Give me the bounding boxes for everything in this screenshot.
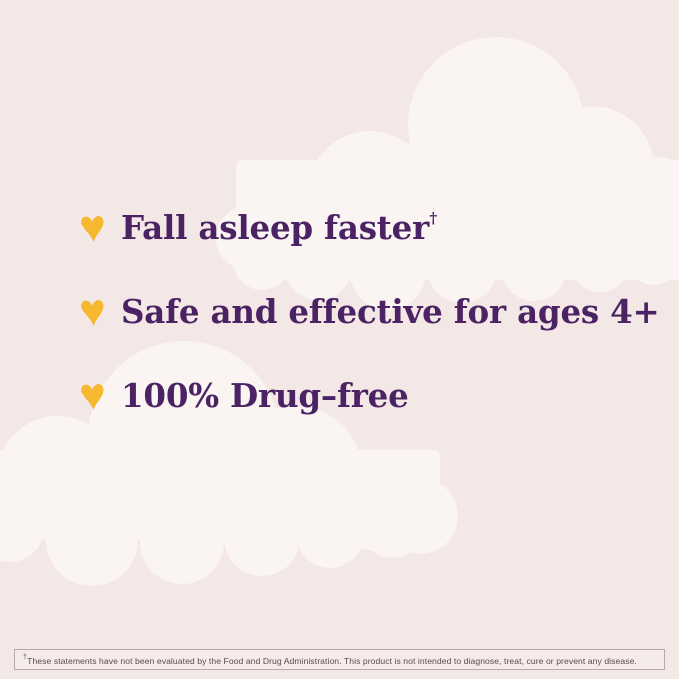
benefit-label: 100% Drug–free (121, 380, 409, 413)
disclaimer-marker: † (23, 652, 27, 661)
disclaimer-box: †These statements have not been evaluate… (14, 649, 665, 670)
benefits-list: Fall asleep faster† Safe and effective f… (78, 186, 638, 438)
benefit-text-0: Fall asleep faster (121, 208, 429, 247)
benefit-row: 100% Drug–free (78, 354, 638, 438)
disclaimer-body: These statements have not been evaluated… (27, 656, 637, 666)
benefit-row: Fall asleep faster† (78, 186, 638, 270)
benefit-row: Safe and effective for ages 4+ (78, 270, 638, 354)
benefit-superscript-0: † (429, 209, 437, 227)
benefit-text-1: Safe and effective for ages 4+ (121, 292, 660, 331)
heart-icon (78, 382, 108, 412)
heart-icon (78, 214, 108, 244)
benefit-label: Safe and effective for ages 4+ (121, 296, 660, 329)
disclaimer-text: †These statements have not been evaluate… (15, 654, 637, 665)
benefit-text-2: 100% Drug–free (121, 376, 409, 415)
benefit-label: Fall asleep faster† (121, 212, 437, 245)
heart-icon (78, 298, 108, 328)
product-benefits-poster: Fall asleep faster† Safe and effective f… (0, 0, 679, 679)
